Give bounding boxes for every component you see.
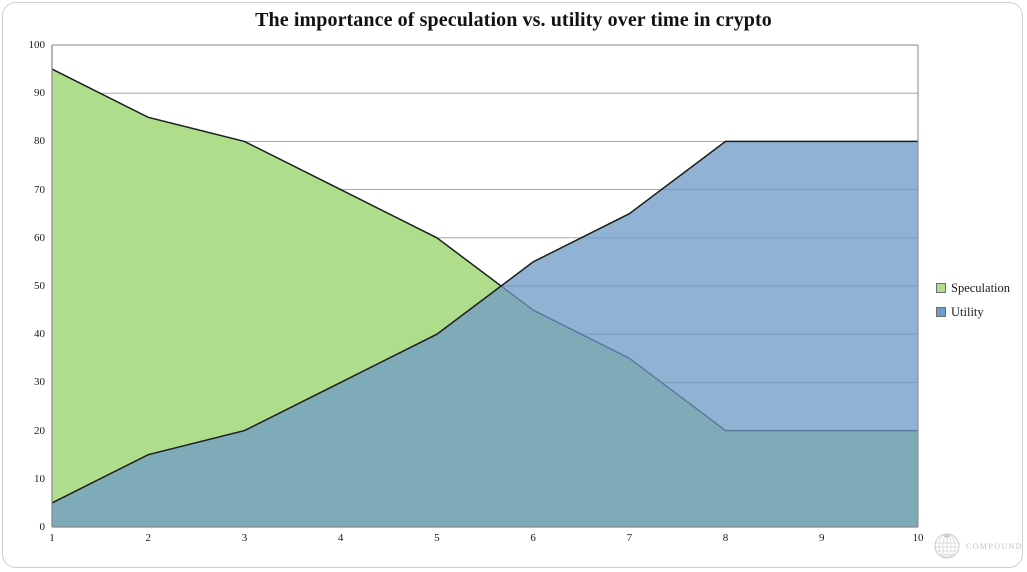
x-axis-tick-label: 6 — [518, 532, 548, 544]
globe-emblem-icon — [932, 531, 962, 561]
x-axis-tick-label: 3 — [229, 532, 259, 544]
legend-swatch-icon — [936, 283, 946, 293]
y-axis-tick-label: 30 — [11, 376, 45, 388]
y-axis-tick-label: 60 — [11, 232, 45, 244]
y-axis-tick-label: 40 — [11, 328, 45, 340]
watermark: COMPOUND — [932, 531, 1023, 561]
y-axis-tick-label: 80 — [11, 135, 45, 147]
x-axis-tick-label: 5 — [422, 532, 452, 544]
y-axis-tick-label: 20 — [11, 425, 45, 437]
x-axis-tick-label: 10 — [903, 532, 933, 544]
x-axis-tick-label: 2 — [133, 532, 163, 544]
chart-page: The importance of speculation vs. utilit… — [0, 0, 1027, 572]
legend-item-label: Utility — [951, 305, 984, 320]
plot-area: 0102030405060708090100 12345678910 — [0, 0, 1027, 572]
watermark-label: COMPOUND — [966, 542, 1023, 551]
y-axis-tick-label: 100 — [11, 39, 45, 51]
series-group — [52, 69, 918, 527]
x-axis-tick-label: 7 — [614, 532, 644, 544]
legend: SpeculationUtility — [936, 281, 1024, 329]
legend-swatch-icon — [936, 307, 946, 317]
x-axis-tick-label: 8 — [711, 532, 741, 544]
y-axis-tick-label: 10 — [11, 473, 45, 485]
x-axis-tick-label: 9 — [807, 532, 837, 544]
legend-item[interactable]: Utility — [936, 305, 1024, 319]
chart-svg — [0, 0, 1027, 572]
y-axis-tick-label: 70 — [11, 184, 45, 196]
x-axis-tick-label: 1 — [37, 532, 67, 544]
legend-item-label: Speculation — [951, 281, 1010, 296]
legend-item[interactable]: Speculation — [936, 281, 1024, 295]
y-axis-tick-label: 50 — [11, 280, 45, 292]
y-axis-tick-label: 90 — [11, 87, 45, 99]
x-axis-tick-label: 4 — [326, 532, 356, 544]
